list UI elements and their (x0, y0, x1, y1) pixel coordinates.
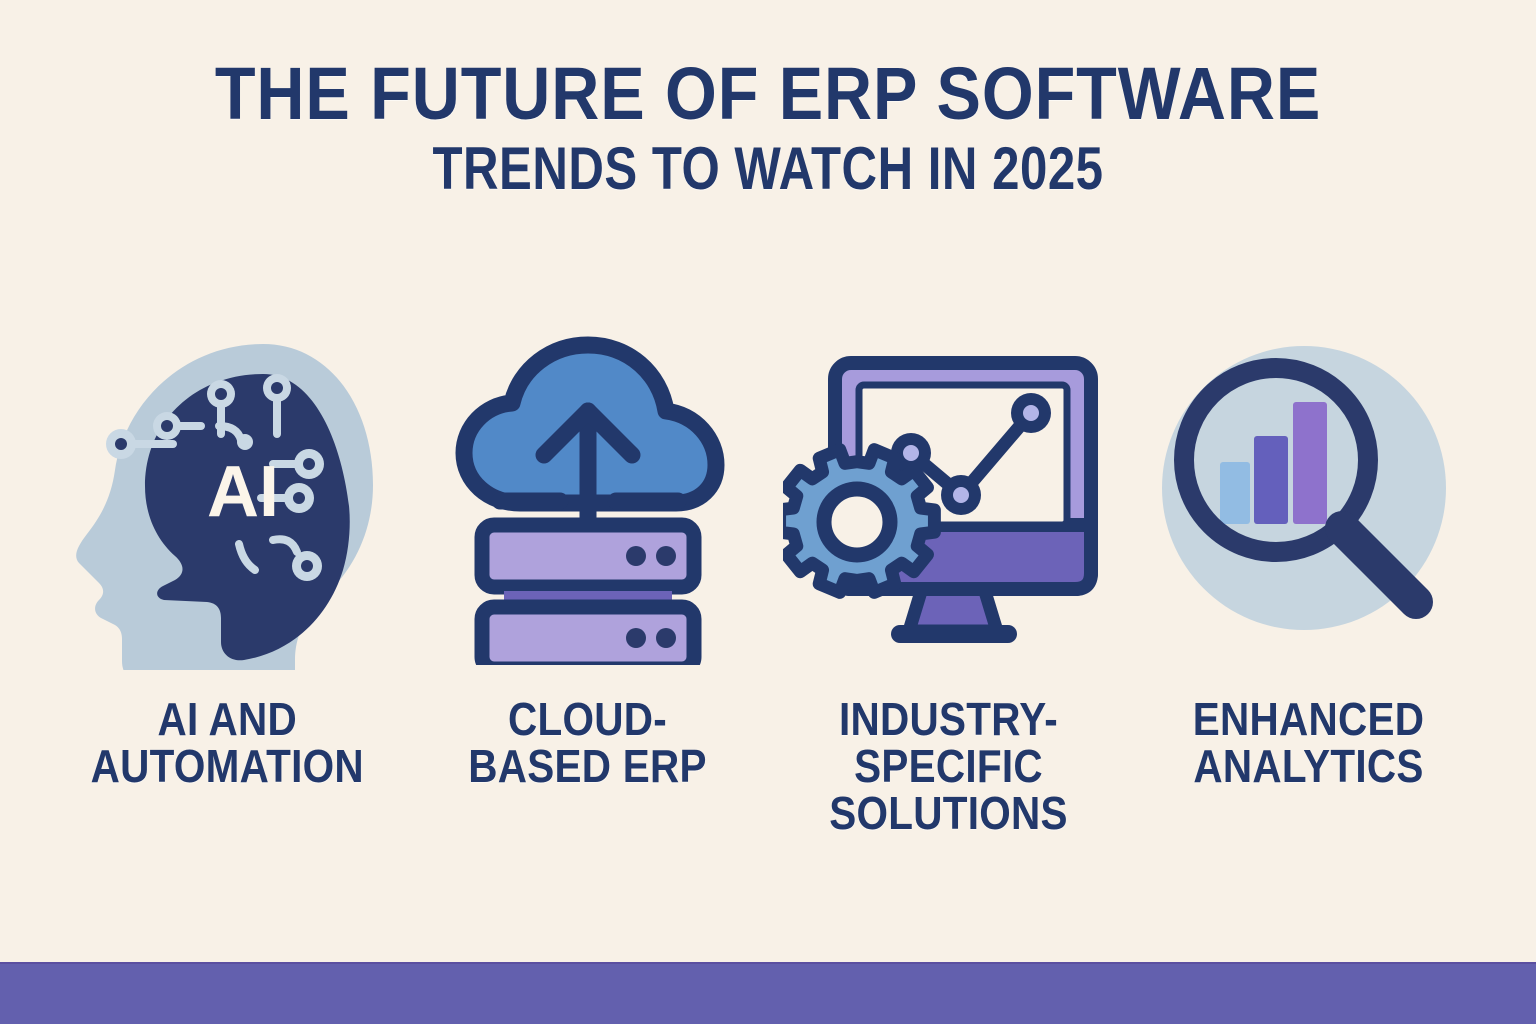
trend-columns: AI AI AND AUTOMATION (0, 330, 1536, 837)
ai-brain-head-icon: AI (62, 330, 392, 670)
trend-label-cloud-erp: CLOUD- BASED ERP (468, 696, 707, 790)
footer-top-edge (0, 962, 1536, 964)
page-title: THE FUTURE OF ERP SOFTWARE TRENDS TO WAT… (0, 58, 1536, 199)
label-line: SOLUTIONS (829, 790, 1068, 837)
gear-icon (783, 450, 934, 593)
bar-2 (1254, 436, 1288, 524)
label-line: AI AND (90, 696, 363, 743)
trend-item-industry-solutions[interactable]: INDUSTRY- SPECIFIC SOLUTIONS (783, 330, 1113, 837)
trend-item-enhanced-analytics[interactable]: ENHANCED ANALYTICS (1144, 330, 1474, 837)
trend-label-industry-solutions: INDUSTRY- SPECIFIC SOLUTIONS (829, 696, 1068, 837)
label-line: ENHANCED (1193, 696, 1425, 743)
server-led (656, 546, 676, 566)
trend-label-enhanced-analytics: ENHANCED ANALYTICS (1193, 696, 1425, 790)
monitor-foot (891, 625, 1017, 643)
title-line-secondary: TRENDS TO WATCH IN 2025 (138, 139, 1398, 199)
label-line: ANALYTICS (1193, 743, 1425, 790)
label-line: CLOUD- (468, 696, 707, 743)
magnifier-bar-chart-icon (1144, 330, 1474, 670)
ai-label-in-brain: AI (207, 452, 279, 532)
cloud-server-upload-icon (423, 330, 753, 670)
bar-1 (1220, 462, 1250, 524)
monitor-gear-chart-icon (783, 330, 1113, 670)
trend-item-cloud-erp[interactable]: CLOUD- BASED ERP (423, 330, 753, 837)
bar-3 (1293, 402, 1327, 524)
label-line: SPECIFIC (829, 743, 1068, 790)
label-line: BASED ERP (468, 743, 707, 790)
server-led (626, 546, 646, 566)
trend-label-ai-automation: AI AND AUTOMATION (90, 696, 363, 790)
footer-accent-bar (0, 962, 1536, 1024)
label-line: INDUSTRY- (829, 696, 1068, 743)
server-led (656, 628, 676, 648)
label-line: AUTOMATION (90, 743, 363, 790)
title-line-primary: THE FUTURE OF ERP SOFTWARE (77, 58, 1459, 131)
server-led (626, 628, 646, 648)
trend-item-ai-automation[interactable]: AI AI AND AUTOMATION (62, 330, 392, 837)
infographic-poster: THE FUTURE OF ERP SOFTWARE TRENDS TO WAT… (0, 0, 1536, 1024)
